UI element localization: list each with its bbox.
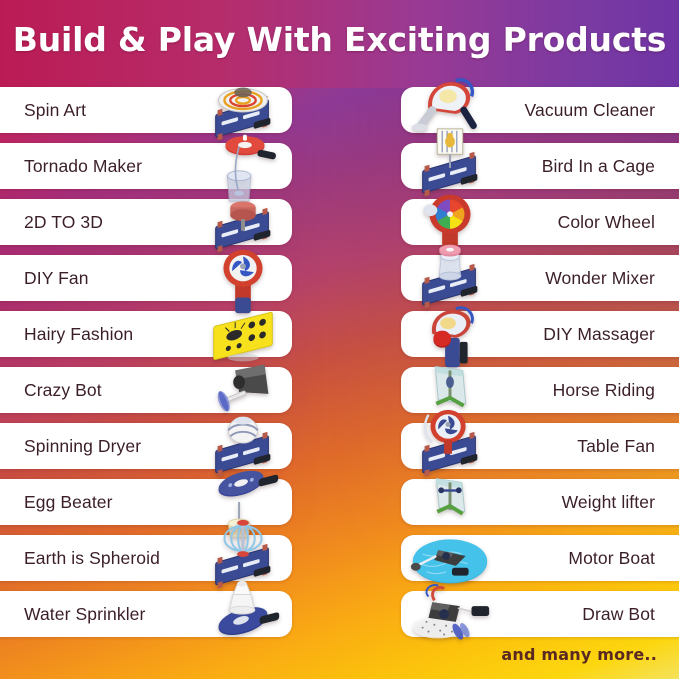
product-label: Spin Art: [24, 100, 86, 121]
product-row[interactable]: Color Wheel: [401, 199, 679, 245]
horse-riding-icon: [407, 347, 493, 433]
product-row[interactable]: DIY Massager: [401, 311, 679, 357]
and-many-more-note: and many more..: [501, 645, 657, 664]
bird-in-a-cage-icon: [407, 123, 493, 209]
product-label: Weight lifter: [562, 492, 655, 513]
product-row[interactable]: Spin Art: [0, 87, 292, 133]
product-label: Crazy Bot: [24, 380, 102, 401]
product-row[interactable]: Weight lifter: [401, 479, 679, 525]
motor-boat-icon: [407, 515, 493, 601]
product-row[interactable]: Motor Boat: [401, 535, 679, 581]
tornado-maker-icon: [200, 123, 286, 209]
product-label: Color Wheel: [558, 212, 655, 233]
table-fan-icon: [407, 403, 493, 489]
product-row[interactable]: Egg Beater: [0, 479, 292, 525]
product-label: Bird In a Cage: [542, 156, 655, 177]
product-label: DIY Fan: [24, 268, 89, 289]
crazy-bot-icon: [200, 347, 286, 433]
product-label: Earth is Spheroid: [24, 548, 160, 569]
product-row[interactable]: Earth is Spheroid: [0, 535, 292, 581]
product-label: Spinning Dryer: [24, 436, 141, 457]
product-row[interactable]: Draw Bot: [401, 591, 679, 637]
poster: Build & Play With Exciting Products Spin…: [0, 0, 679, 679]
product-label: Egg Beater: [24, 492, 113, 513]
earth-is-spheroid-icon: [200, 515, 286, 601]
product-row[interactable]: Vacuum Cleaner: [401, 87, 679, 133]
left-product-column: Spin Art Tornado Maker: [0, 87, 292, 647]
product-row[interactable]: Tornado Maker: [0, 143, 292, 189]
product-label: Horse Riding: [553, 380, 655, 401]
page-title: Build & Play With Exciting Products: [0, 20, 679, 59]
product-label: Draw Bot: [582, 604, 655, 625]
egg-beater-icon: [200, 459, 286, 545]
wonder-mixer-icon: [407, 235, 493, 321]
product-row[interactable]: Water Sprinkler: [0, 591, 292, 637]
water-sprinkler-icon: [200, 571, 286, 657]
2d-to-3d-icon: [200, 179, 286, 265]
right-product-column: Vacuum Cleaner Bird In a Cage: [401, 87, 679, 647]
diy-fan-icon: [200, 235, 286, 321]
hairy-fashion-icon: [200, 291, 286, 377]
product-row[interactable]: Table Fan: [401, 423, 679, 469]
diy-massager-icon: [407, 291, 493, 377]
product-label: Tornado Maker: [24, 156, 142, 177]
product-label: Wonder Mixer: [545, 268, 655, 289]
color-wheel-icon: [407, 179, 493, 265]
product-label: Vacuum Cleaner: [525, 100, 655, 121]
product-row[interactable]: DIY Fan: [0, 255, 292, 301]
product-row[interactable]: Spinning Dryer: [0, 423, 292, 469]
product-label: Hairy Fashion: [24, 324, 133, 345]
product-row[interactable]: 2D TO 3D: [0, 199, 292, 245]
product-label: Water Sprinkler: [24, 604, 145, 625]
draw-bot-icon: [407, 571, 493, 657]
product-label: 2D TO 3D: [24, 212, 103, 233]
product-label: DIY Massager: [543, 324, 655, 345]
product-row[interactable]: Horse Riding: [401, 367, 679, 413]
product-row[interactable]: Hairy Fashion: [0, 311, 292, 357]
product-label: Table Fan: [577, 436, 655, 457]
product-row[interactable]: Wonder Mixer: [401, 255, 679, 301]
product-row[interactable]: Crazy Bot: [0, 367, 292, 413]
weight-lifter-icon: [407, 459, 493, 545]
product-label: Motor Boat: [568, 548, 655, 569]
spinning-dryer-icon: [200, 403, 286, 489]
product-row[interactable]: Bird In a Cage: [401, 143, 679, 189]
